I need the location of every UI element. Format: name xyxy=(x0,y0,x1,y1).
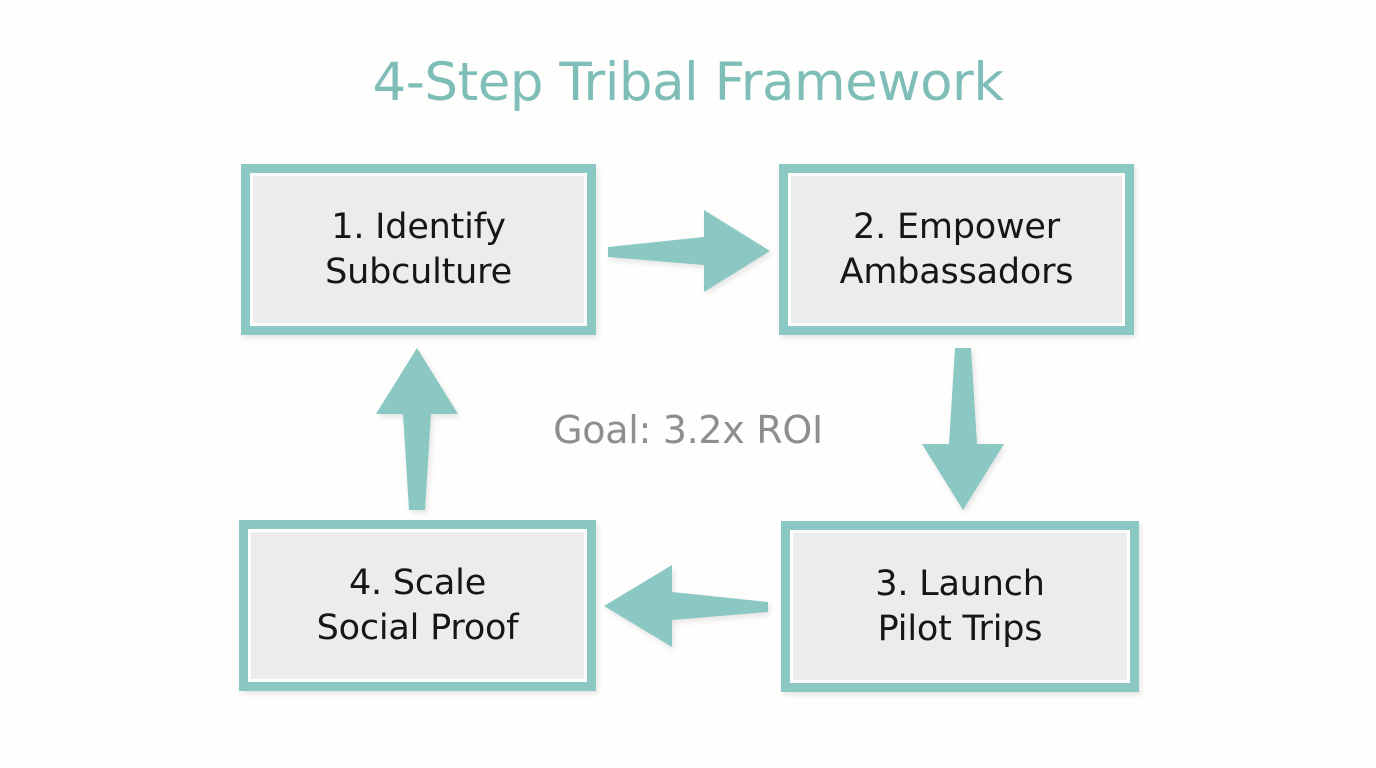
step-box-4-scale-social-proof[interactable]: 4. Scale Social Proof xyxy=(239,520,596,691)
step-box-4-label: 4. Scale Social Proof xyxy=(317,561,519,651)
arrow-right-icon xyxy=(608,206,770,296)
goal-caption: Goal: 3.2x ROI xyxy=(438,408,938,452)
step-box-1-label: 1. Identify Subculture xyxy=(325,205,512,295)
step-box-2-label: 2. Empower Ambassadors xyxy=(840,205,1074,295)
page-title: 4-Step Tribal Framework xyxy=(0,52,1376,113)
arrow-left-icon xyxy=(604,561,768,651)
diagram-canvas: 4-Step Tribal Framework 1. Identify Subc… xyxy=(0,0,1376,768)
step-box-3-launch-pilot-trips[interactable]: 3. Launch Pilot Trips xyxy=(781,521,1139,692)
step-box-1-identify-subculture[interactable]: 1. Identify Subculture xyxy=(241,164,596,335)
step-box-2-empower-ambassadors[interactable]: 2. Empower Ambassadors xyxy=(779,164,1134,335)
step-box-3-label: 3. Launch Pilot Trips xyxy=(875,562,1044,652)
